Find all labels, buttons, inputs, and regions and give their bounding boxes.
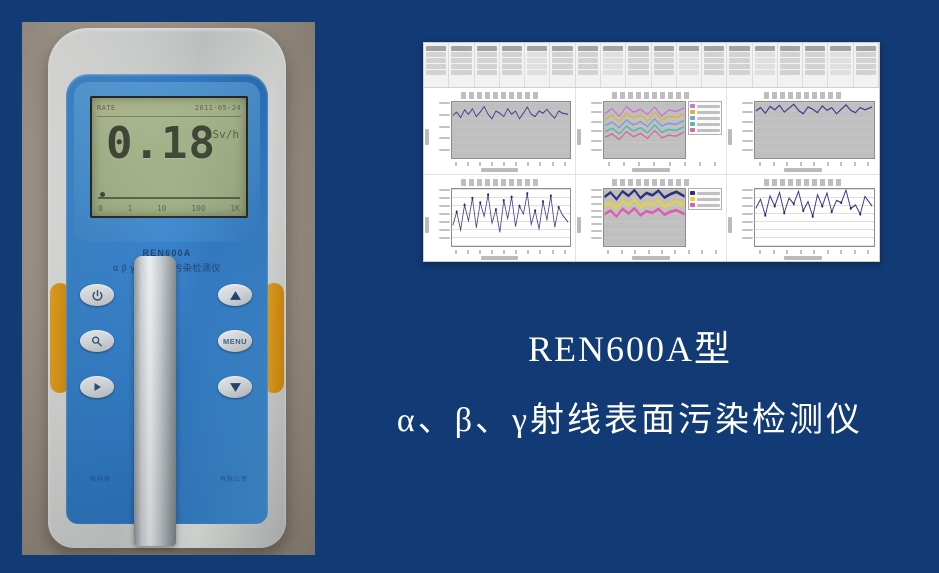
table-cell (704, 46, 724, 51)
table-cell (477, 70, 497, 75)
x-tick (699, 162, 701, 166)
chart-bottom-left[interactable] (424, 175, 576, 262)
menu-button[interactable]: MENU (218, 330, 252, 352)
table-cell (451, 58, 471, 63)
lcd-scale-tick: 100 (191, 204, 205, 213)
chart-y-axis (580, 101, 603, 159)
lcd-divider (97, 116, 241, 117)
legend-label (697, 129, 720, 132)
x-tick (674, 250, 676, 254)
table-cell (755, 58, 775, 63)
table-cell (780, 52, 800, 57)
chart-x-axis-label (481, 256, 518, 260)
table-cell (578, 46, 598, 51)
device-front-face: RATE 2011-05-24 0.18 uSv/h 0 1 10 100 (66, 74, 268, 524)
table-cell (780, 58, 800, 63)
x-tick (491, 162, 493, 166)
legend-label (697, 117, 720, 120)
x-tick (527, 162, 529, 166)
y-tick (742, 121, 753, 123)
legend-swatch (690, 191, 695, 195)
chart-x-axis-label (784, 168, 821, 172)
bumper-left (50, 283, 70, 393)
x-tick (661, 250, 663, 254)
x-tick (479, 250, 481, 254)
lcd-scale-tick: 0 (98, 204, 103, 213)
y-tick (591, 140, 602, 142)
x-tick (564, 250, 566, 254)
chart-x-axis-label (632, 256, 669, 260)
chart-legend (688, 188, 722, 210)
table-cell (654, 52, 674, 57)
chart-plot-area (451, 101, 571, 159)
table-cell (755, 52, 775, 57)
table-cell (830, 52, 850, 57)
table-column (576, 43, 601, 87)
table-cell (755, 64, 775, 69)
legend-label (697, 204, 720, 207)
y-tick (742, 149, 753, 151)
table-cell (451, 46, 471, 51)
legend-item (690, 191, 720, 195)
legend-item (690, 104, 720, 108)
x-tick (503, 162, 505, 166)
x-tick (638, 162, 640, 166)
chart-title (764, 179, 842, 186)
table-cell (755, 46, 775, 51)
chart-title (461, 179, 538, 186)
table-cell (477, 52, 497, 57)
x-tick (813, 250, 815, 254)
x-tick (786, 250, 788, 254)
chart-title (461, 92, 538, 99)
table-cell (552, 46, 572, 51)
table-cell (679, 52, 699, 57)
table-cell (477, 64, 497, 69)
table-cell (552, 52, 572, 57)
lcd-bezel: RATE 2011-05-24 0.18 uSv/h 0 1 10 100 (74, 82, 260, 242)
table-cell (856, 52, 876, 57)
table-column (854, 43, 879, 87)
table-cell (780, 70, 800, 75)
table-cell (578, 70, 598, 75)
chart-plot-area (754, 188, 875, 247)
lcd-scale-tick: 10 (157, 204, 167, 213)
device-handle-grip (134, 256, 176, 546)
chart-y-axis-label (577, 217, 581, 233)
x-tick (455, 162, 457, 166)
chart-bottom-right[interactable] (727, 175, 879, 262)
x-tick (621, 250, 623, 254)
x-tick (867, 250, 869, 254)
x-tick (701, 250, 703, 254)
y-tick (591, 210, 602, 212)
x-tick (515, 162, 517, 166)
radiation-meter-body: RATE 2011-05-24 0.18 uSv/h 0 1 10 100 (48, 28, 286, 548)
x-tick (813, 162, 815, 166)
x-tick (800, 162, 802, 166)
legend-item (690, 116, 720, 120)
x-tick (759, 162, 761, 166)
device-photograph: RATE 2011-05-24 0.18 uSv/h 0 1 10 100 (22, 22, 315, 555)
x-tick (515, 250, 517, 254)
table-cell (704, 52, 724, 57)
table-cell (502, 70, 522, 75)
chart-x-axis (602, 159, 723, 168)
table-cell (805, 64, 825, 69)
x-tick (608, 162, 610, 166)
table-cell (477, 58, 497, 63)
table-column (601, 43, 626, 87)
x-tick (467, 162, 469, 166)
legend-item (690, 110, 720, 114)
table-cell (451, 52, 471, 57)
chart-y-axis (731, 101, 754, 159)
chart-legend (688, 101, 722, 135)
y-tick (591, 216, 602, 218)
y-tick (742, 130, 753, 132)
x-tick (607, 250, 609, 254)
table-cell (704, 58, 724, 63)
table-cell (628, 46, 648, 51)
table-column (652, 43, 677, 87)
table-cell (729, 52, 749, 57)
table-cell (502, 46, 522, 51)
x-tick (539, 250, 541, 254)
x-tick (669, 162, 671, 166)
x-tick (800, 250, 802, 254)
chart-y-axis-label (728, 129, 732, 145)
chart-grid (424, 88, 879, 262)
table-cell (578, 52, 598, 57)
table-cell (704, 64, 724, 69)
power-icon (91, 289, 104, 302)
table-cell (527, 58, 547, 63)
table-cell (527, 70, 547, 75)
y-tick (742, 237, 753, 239)
x-tick (854, 162, 856, 166)
table-cell (426, 70, 446, 75)
table-column (449, 43, 474, 87)
legend-item (690, 122, 720, 126)
chart-x-axis-label (481, 168, 518, 172)
table-cell (755, 70, 775, 75)
chart-x-axis (753, 159, 875, 168)
table-cell (679, 46, 699, 51)
x-tick (653, 162, 655, 166)
y-tick (439, 189, 450, 191)
product-title-line2: α、β、γ射线表面污染检测仪 (330, 392, 930, 441)
legend-swatch (690, 104, 695, 108)
data-points (765, 201, 862, 218)
lcd-status-left: RATE (97, 104, 115, 112)
chart-y-axis-label (728, 217, 732, 233)
search-icon (90, 335, 104, 348)
table-column (424, 43, 449, 87)
x-tick (455, 250, 457, 254)
x-tick (564, 162, 566, 166)
y-tick (591, 196, 602, 198)
y-tick (742, 213, 753, 215)
chart-bottom-middle[interactable] (576, 175, 728, 262)
table-cell (830, 46, 850, 51)
series-line (452, 189, 570, 246)
table-cell (729, 46, 749, 51)
y-tick (439, 137, 450, 139)
y-tick (591, 189, 602, 191)
series-line (755, 102, 874, 158)
x-tick (773, 250, 775, 254)
table-column (550, 43, 575, 87)
x-tick (527, 250, 529, 254)
table-cell (729, 64, 749, 69)
x-tick (827, 250, 829, 254)
power-button[interactable] (80, 284, 114, 306)
triangle-down-icon (229, 382, 242, 393)
table-cell (830, 70, 850, 75)
chart-top-left[interactable] (424, 88, 576, 175)
table-cell (856, 70, 876, 75)
chart-top-right[interactable] (727, 88, 879, 175)
table-cell (805, 70, 825, 75)
y-tick (742, 229, 753, 231)
y-tick (439, 213, 450, 215)
lcd-scale: 0 1 10 100 1K (98, 202, 240, 214)
triangle-up-icon (229, 290, 242, 301)
product-title-line1: REN600A型 (330, 320, 930, 372)
x-tick (467, 250, 469, 254)
chart-x-axis (450, 159, 571, 168)
lcd-scale-tick: 1K (230, 204, 240, 213)
chart-y-axis-label (425, 129, 429, 145)
chart-x-axis-label (784, 256, 821, 260)
legend-item (690, 128, 720, 132)
table-column (702, 43, 727, 87)
table-cell (856, 64, 876, 69)
table-cell (654, 70, 674, 75)
legend-label (697, 192, 720, 195)
bumper-right (264, 283, 284, 393)
y-tick (439, 126, 450, 128)
chart-x-axis-label (632, 168, 669, 172)
y-tick (591, 121, 602, 123)
y-tick (439, 149, 450, 151)
table-cell (856, 58, 876, 63)
x-tick (552, 250, 554, 254)
table-cell (805, 58, 825, 63)
table-cell (679, 70, 699, 75)
table-cell (552, 70, 572, 75)
table-cell (527, 64, 547, 69)
table-cell (502, 64, 522, 69)
series-line (755, 189, 874, 246)
chart-title (612, 179, 689, 186)
y-tick (591, 111, 602, 113)
y-tick (439, 197, 450, 199)
chart-plot-area (603, 188, 687, 247)
y-tick (742, 189, 753, 191)
measurement-software-screenshot (423, 42, 880, 262)
chart-y-axis-label (577, 129, 581, 145)
legend-item (690, 197, 720, 201)
y-tick (591, 203, 602, 205)
lcd-reading-unit: uSv/h (206, 128, 239, 141)
query-button[interactable] (80, 330, 114, 352)
table-cell (477, 46, 497, 51)
y-tick (742, 111, 753, 113)
brand-text-right: 有限公司 (220, 474, 248, 483)
table-cell (654, 64, 674, 69)
brand-text-left: 核科技 (90, 474, 111, 483)
slide-background: RATE 2011-05-24 0.18 uSv/h 0 1 10 100 (0, 0, 939, 573)
table-cell (780, 64, 800, 69)
device-model-label-chinese: α β γ射线表面污染检测仪 (66, 261, 268, 274)
table-cell (729, 58, 749, 63)
table-cell (805, 46, 825, 51)
table-cell (856, 46, 876, 51)
table-column (475, 43, 500, 87)
table-cell (780, 46, 800, 51)
y-tick (439, 229, 450, 231)
table-cell (603, 64, 623, 69)
table-cell (654, 58, 674, 63)
legend-swatch (690, 128, 695, 132)
table-cell (830, 58, 850, 63)
table-cell (679, 58, 699, 63)
table-column (525, 43, 550, 87)
up-button[interactable] (218, 284, 252, 306)
chart-y-axis-label (425, 217, 429, 233)
chart-title (612, 92, 689, 99)
table-cell (527, 46, 547, 51)
legend-label (697, 105, 720, 108)
table-cell (527, 52, 547, 57)
lcd-status-bar: RATE 2011-05-24 (97, 101, 241, 114)
chart-x-axis (450, 247, 571, 256)
chart-x-axis (602, 247, 723, 256)
down-button[interactable] (218, 376, 252, 398)
table-column (677, 43, 702, 87)
table-cell (578, 64, 598, 69)
table-cell (704, 70, 724, 75)
play-button[interactable] (80, 376, 114, 398)
series-line (452, 102, 570, 158)
lcd-scale-tick: 1 (127, 204, 132, 213)
y-tick (439, 102, 450, 104)
table-cell (578, 58, 598, 63)
chart-plot-area (754, 101, 875, 159)
data-table-strip (424, 43, 879, 88)
x-tick (714, 162, 716, 166)
y-tick (591, 102, 602, 104)
table-cell (426, 64, 446, 69)
table-cell (628, 58, 648, 63)
x-tick (854, 250, 856, 254)
y-tick (439, 114, 450, 116)
table-cell (451, 70, 471, 75)
y-tick (591, 130, 602, 132)
legend-swatch (690, 203, 695, 207)
series-areas (604, 189, 686, 246)
table-cell (603, 52, 623, 57)
table-cell (426, 52, 446, 57)
table-cell (830, 64, 850, 69)
legend-swatch (690, 122, 695, 126)
table-column (828, 43, 853, 87)
table-cell (552, 58, 572, 63)
table-cell (679, 64, 699, 69)
legend-label (697, 123, 720, 126)
x-tick (648, 250, 650, 254)
x-tick (715, 250, 717, 254)
x-tick (503, 250, 505, 254)
table-cell (451, 64, 471, 69)
table-cell (426, 46, 446, 51)
table-cell (628, 64, 648, 69)
legend-swatch (690, 197, 695, 201)
y-tick (591, 149, 602, 151)
legend-swatch (690, 110, 695, 114)
table-cell (603, 70, 623, 75)
table-cell (729, 70, 749, 75)
x-tick (634, 250, 636, 254)
table-column (626, 43, 651, 87)
x-tick (867, 162, 869, 166)
x-tick (491, 250, 493, 254)
y-tick (439, 237, 450, 239)
y-tick (439, 205, 450, 207)
y-tick (742, 197, 753, 199)
chart-plot-area (451, 188, 571, 247)
legend-swatch (690, 116, 695, 120)
chart-y-axis (580, 188, 603, 247)
x-tick (539, 162, 541, 166)
x-tick (827, 162, 829, 166)
product-title-block: REN600A型 α、β、γ射线表面污染检测仪 (330, 320, 930, 441)
play-icon (91, 381, 103, 393)
x-tick (623, 162, 625, 166)
chart-title (764, 92, 842, 99)
y-tick (591, 230, 602, 232)
y-tick (742, 102, 753, 104)
y-tick (591, 237, 602, 239)
lcd-display: RATE 2011-05-24 0.18 uSv/h 0 1 10 100 (90, 96, 248, 218)
chart-y-axis (731, 188, 754, 247)
y-tick (591, 223, 602, 225)
chart-x-axis (753, 247, 875, 256)
table-cell (628, 70, 648, 75)
table-cell (603, 58, 623, 63)
x-tick (684, 162, 686, 166)
table-cell (628, 52, 648, 57)
y-tick (742, 205, 753, 207)
legend-label (697, 198, 720, 201)
table-cell (502, 58, 522, 63)
table-cell (502, 52, 522, 57)
x-tick (688, 250, 690, 254)
lcd-reading-value: 0.18 (106, 118, 216, 170)
device-model-label: REN600A (66, 248, 268, 258)
table-column (753, 43, 778, 87)
chart-top-middle[interactable] (576, 88, 728, 175)
chart-plot-area (603, 101, 687, 159)
table-column (778, 43, 803, 87)
table-column (500, 43, 525, 87)
x-tick (786, 162, 788, 166)
chart-y-axis (428, 188, 451, 247)
lcd-status-right: 2011-05-24 (195, 104, 241, 112)
legend-label (697, 111, 720, 114)
